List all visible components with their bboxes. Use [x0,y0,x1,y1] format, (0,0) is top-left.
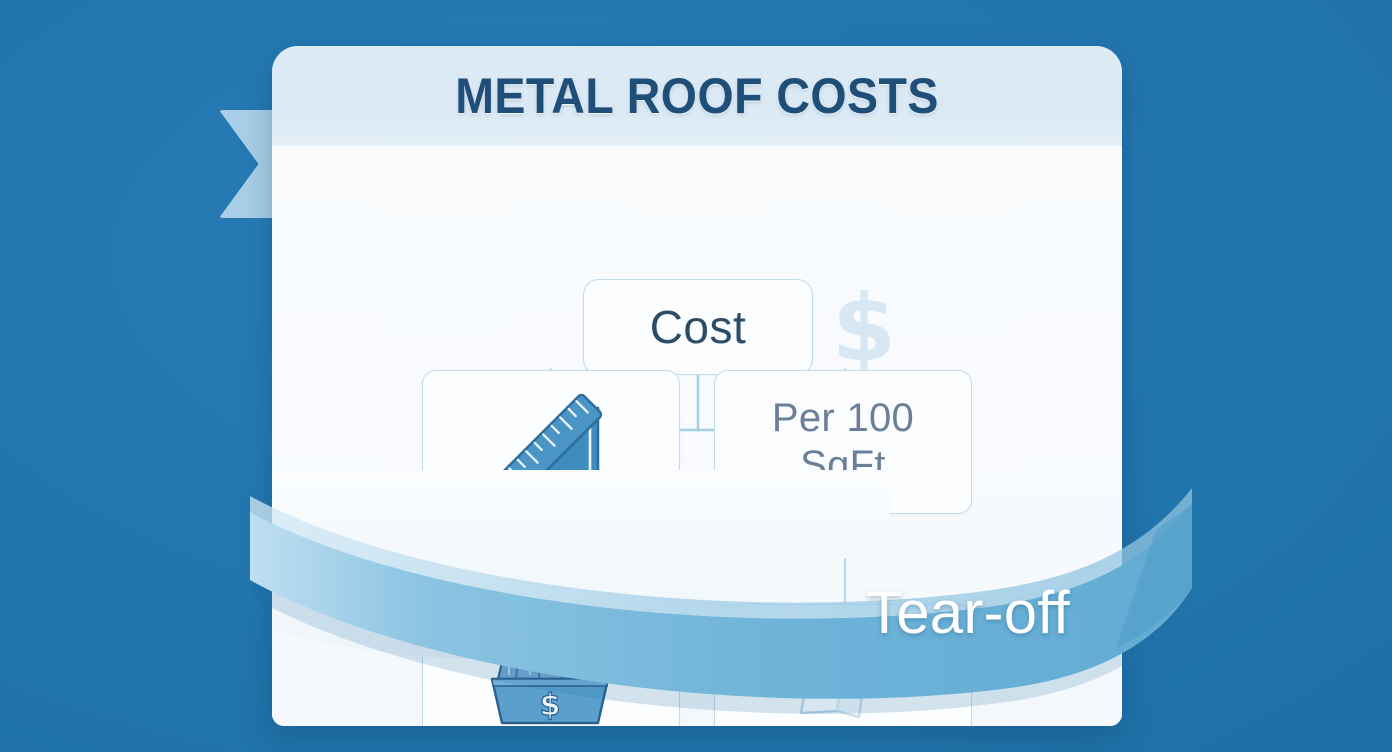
page-title: METAL ROOF COSTS [455,67,939,125]
node-cost-label: Cost [650,300,747,354]
node-per-100-sqft-label: Per 100 SqFt [772,395,914,489]
banner-label: Tear-off [866,578,1070,647]
node-material-cost[interactable]: $ $ [422,604,680,726]
node-per-100-sqft[interactable]: Per 100 SqFt [714,370,972,514]
node-measure[interactable] [422,370,680,514]
node-per-100-sqft-line1: Per 100 [772,395,914,442]
node-cost[interactable]: Cost [583,279,813,375]
ruler-triangle-icon [488,386,614,498]
node-per-100-sqft-line2: SqFt [772,442,914,489]
shingle-box-dollar-icon: $ $ [478,617,624,726]
infographic-canvas: METAL ROOF COSTS $ [0,0,1392,752]
svg-text:$: $ [540,688,561,723]
dollar-watermark-icon: $ [832,283,896,375]
card-header: METAL ROOF COSTS [272,46,1122,146]
svg-text:$: $ [548,647,556,660]
